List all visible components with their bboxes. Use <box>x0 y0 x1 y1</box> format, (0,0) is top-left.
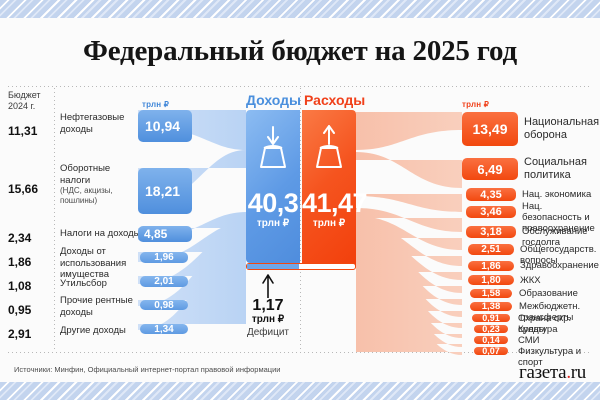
expense-bar-2: 4,35 <box>466 188 516 201</box>
revenue-bar-1: 18,21 <box>138 168 192 214</box>
deficit-unit: трлн ₽ <box>233 314 303 325</box>
expense-total-column: 41,47 трлн ₽ <box>302 110 356 270</box>
revenue-item-label: Налоги на доходы <box>60 228 142 240</box>
budget-2024-value: 1,86 <box>8 255 54 269</box>
deficit-caption: Дефицит <box>233 327 303 338</box>
revenue-unit-label: трлн ₽ <box>142 100 169 109</box>
budget-2024-value: 0,95 <box>8 303 54 317</box>
revenue-bar-4: 2,01 <box>140 276 188 287</box>
expense-bar-10: 0,91 <box>472 314 510 322</box>
budget-2024-value: 1,08 <box>8 279 54 293</box>
bag-arrow-up-icon <box>302 122 356 174</box>
expense-bar-12: 0,14 <box>474 336 508 344</box>
budget-2024-header: Бюджет 2024 г. <box>8 90 54 112</box>
expense-bar-0: 13,49 <box>462 112 518 146</box>
expense-column-title: Расходы <box>304 92 364 108</box>
sources-note: Источники: Минфин, Официальный интернет-… <box>14 365 280 374</box>
revenue-bar-0: 10,94 <box>138 110 192 142</box>
deficit-value: 1,17 <box>233 297 303 315</box>
expense-bar-6: 1,86 <box>468 261 514 271</box>
budget-2024-value: 15,66 <box>8 182 54 196</box>
expense-item-label: Нац. экономика <box>522 189 600 200</box>
expense-item-label: Здравоохранение <box>520 260 600 271</box>
budget-2024-value: 2,91 <box>8 327 54 341</box>
budget-2024-value: 2,34 <box>8 231 54 245</box>
expense-item-label: ЖКХ <box>520 275 600 286</box>
revenue-item-label: Утильсбор <box>60 278 142 290</box>
revenue-bar-5: 0,98 <box>140 300 188 310</box>
expense-total-value: 41,47 <box>302 188 356 219</box>
expense-bar-7: 1,80 <box>468 275 514 285</box>
revenue-total-column: 40,3 трлн ₽ <box>246 110 300 263</box>
expense-bar-1: 6,49 <box>462 158 518 180</box>
expense-item-label: Культура <box>518 324 600 335</box>
expense-bar-8: 1,58 <box>470 289 512 298</box>
arrow-up-icon <box>258 272 278 298</box>
revenue-item-label: Нефтегазовые доходы <box>60 112 142 135</box>
expense-item-label: Социальная политика <box>524 156 598 181</box>
expense-bar-5: 2,51 <box>468 244 514 255</box>
expense-bar-3: 3,46 <box>466 206 516 218</box>
budget-2024-value: 11,31 <box>8 124 54 138</box>
deficit-gap-fill <box>247 264 299 269</box>
expense-bar-11: 0,23 <box>474 325 508 333</box>
expense-bar-13: 0,07 <box>474 347 508 355</box>
logo-word: газета <box>519 362 566 383</box>
revenue-item-label: Прочие рентные доходы <box>60 295 142 318</box>
revenue-total-unit: трлн ₽ <box>246 218 300 229</box>
expense-total-unit: трлн ₽ <box>302 218 356 229</box>
infographic-canvas: Федеральный бюджет на 2025 год <box>0 0 600 400</box>
expense-bar-4: 3,18 <box>466 226 516 238</box>
bag-arrow-down-icon <box>246 122 300 174</box>
revenue-item-label: Другие доходы <box>60 325 142 337</box>
expense-item-label: Образование <box>519 288 599 299</box>
revenue-column-title: Доходы <box>246 92 300 108</box>
revenue-item-label: Оборотные налоги (НДС, акцизы, пошлины) <box>60 163 142 205</box>
revenue-item-label: Доходы от использования имущества <box>60 246 142 281</box>
expense-bar-9: 1,38 <box>470 302 512 311</box>
revenue-bar-6: 1,34 <box>140 324 188 334</box>
logo-tld: ru <box>571 362 586 383</box>
revenue-total-value: 40,3 <box>246 188 300 219</box>
expense-item-label: СМИ <box>518 335 600 346</box>
expense-item-label: Национальная оборона <box>524 116 598 141</box>
revenue-bar-3: 1,96 <box>140 252 188 263</box>
expense-unit-label: трлн ₽ <box>462 100 489 109</box>
gazeta-logo[interactable]: газета.ru <box>519 362 586 384</box>
revenue-bar-2: 4,85 <box>138 226 192 242</box>
